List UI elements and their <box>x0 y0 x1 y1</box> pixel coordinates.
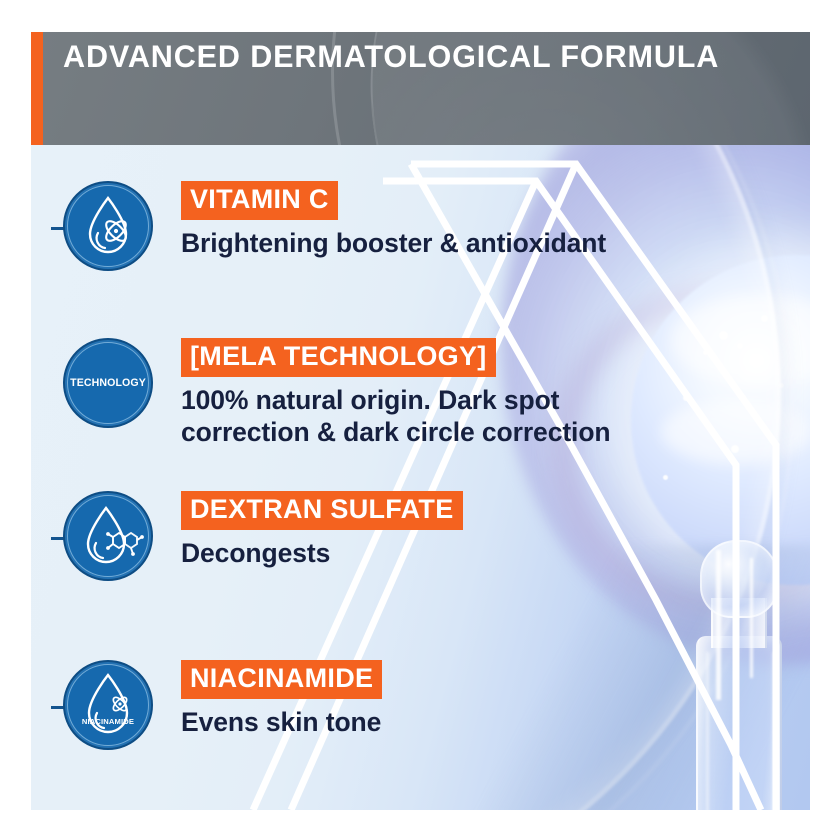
technology-badge-icon: TECHNOLOGY <box>59 336 155 432</box>
page-title: ADVANCED DERMATOLOGICAL FORMULA <box>63 0 719 113</box>
ingredient-name-chip: [MELA TECHNOLOGY] <box>181 338 496 377</box>
ingredient-row-niacinamide: NIACINAMIDE NIACINAMIDE Evens skin tone <box>59 658 382 754</box>
droplet-molecule-icon <box>59 489 155 585</box>
infographic-canvas: ADVANCED DERMATOLOGICAL FORMULA <box>0 0 840 840</box>
ingredient-row-mela-technology: TECHNOLOGY [MELA TECHNOLOGY] 100% natura… <box>59 336 671 448</box>
ingredient-name-chip: NIACINAMIDE <box>181 660 382 699</box>
droplet-niacinamide-icon: NIACINAMIDE <box>59 658 155 754</box>
technology-badge-label: TECHNOLOGY <box>63 338 153 428</box>
ingredient-row-vitamin-c: VITAMIN C Brightening booster & antioxid… <box>59 179 606 275</box>
ingredient-name-chip: VITAMIN C <box>181 181 338 220</box>
ingredient-description: Decongests <box>181 537 463 569</box>
ingredient-description: Brightening booster & antioxidant <box>181 227 606 259</box>
ingredient-list: VITAMIN C Brightening booster & antioxid… <box>31 145 810 810</box>
header-accent-bar <box>31 32 43 145</box>
content-panel: VITAMIN C Brightening booster & antioxid… <box>31 145 810 810</box>
droplet-atom-glyph <box>63 181 153 271</box>
ingredient-text-block: DEXTRAN SULFATE Decongests <box>181 489 463 569</box>
ingredient-text-block: [MELA TECHNOLOGY] 100% natural origin. D… <box>181 336 671 448</box>
ingredient-text-block: VITAMIN C Brightening booster & antioxid… <box>181 179 606 259</box>
droplet-atom-icon <box>59 179 155 275</box>
droplet-molecule-glyph <box>63 491 153 581</box>
svg-text:NIACINAMIDE: NIACINAMIDE <box>82 717 134 726</box>
ingredient-description: 100% natural origin. Dark spot correctio… <box>181 384 671 448</box>
droplet-niacinamide-glyph: NIACINAMIDE <box>63 660 153 750</box>
ingredient-text-block: NIACINAMIDE Evens skin tone <box>181 658 382 738</box>
ingredient-name-chip: DEXTRAN SULFATE <box>181 491 463 530</box>
ingredient-description: Evens skin tone <box>181 706 382 738</box>
ingredient-row-dextran-sulfate: DEXTRAN SULFATE Decongests <box>59 489 463 585</box>
